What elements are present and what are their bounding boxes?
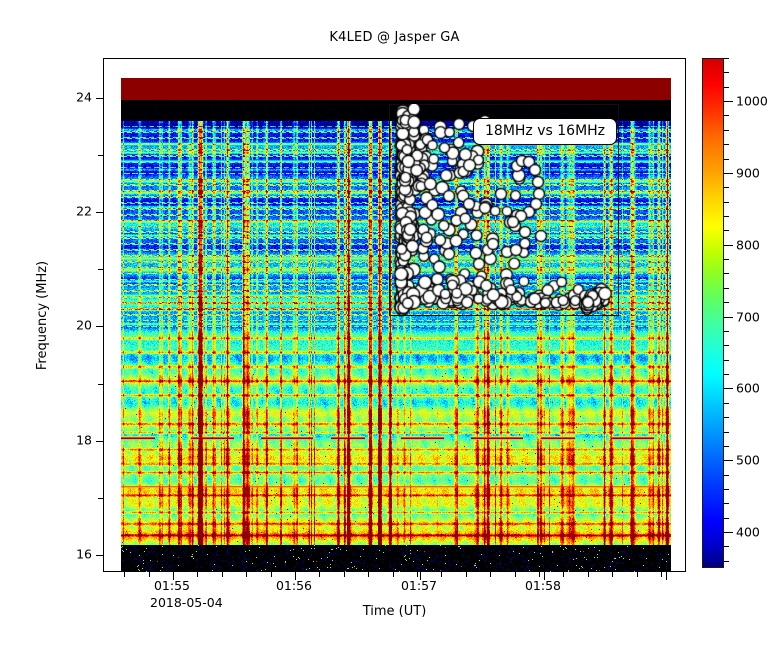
colorbar-minor-tick <box>724 331 729 332</box>
y-axis-tick <box>96 441 104 442</box>
colorbar-tick <box>724 388 733 389</box>
colorbar-minor-tick <box>724 360 729 361</box>
colorbar-minor-tick <box>724 345 729 346</box>
x-axis-minor-tick <box>588 571 589 577</box>
y-axis-minor-tick <box>98 155 104 156</box>
x-axis-minor-tick <box>466 571 467 577</box>
colorbar-minor-tick <box>724 144 729 145</box>
x-axis-minor-tick <box>661 571 662 577</box>
colorbar-minor-tick <box>724 288 729 289</box>
y-axis-tick-label: 22 <box>52 204 92 219</box>
colorbar-minor-tick <box>724 230 729 231</box>
y-axis-tick-label: 18 <box>52 432 92 447</box>
x-axis-minor-tick <box>271 571 272 577</box>
x-axis-minor-tick <box>612 571 613 577</box>
y-axis-tick-label: 16 <box>52 546 92 561</box>
colorbar-minor-tick <box>724 417 729 418</box>
x-axis-minor-tick <box>344 571 345 577</box>
spectrogram-raster <box>121 78 671 572</box>
x-axis-tick-label: 01:57 <box>384 578 454 593</box>
figure-canvas: K4LED @ Jasper GA Frequency (MHz) 18MHz … <box>0 0 783 656</box>
colorbar-minor-tick <box>724 273 729 274</box>
colorbar-tick <box>724 317 733 318</box>
colorbar-tick-label: 800 <box>736 237 760 252</box>
colorbar-minor-tick <box>724 374 729 375</box>
colorbar-minor-tick <box>724 518 729 519</box>
x-axis-minor-tick <box>197 571 198 577</box>
colorbar-tick-label: 400 <box>736 525 760 540</box>
colorbar-tick <box>724 173 733 174</box>
x-axis-tick-label: 01:55 <box>137 578 207 593</box>
x-axis-minor-tick <box>441 571 442 577</box>
x-axis-tick-label: 01:56 <box>259 578 329 593</box>
colorbar-minor-tick <box>724 561 729 562</box>
y-axis-minor-tick <box>98 384 104 385</box>
colorbar-minor-tick <box>724 302 729 303</box>
chart-title: K4LED @ Jasper GA <box>103 30 686 45</box>
colorbar-minor-tick <box>724 87 729 88</box>
x-axis-minor-tick <box>246 571 247 577</box>
colorbar-minor-tick <box>724 187 729 188</box>
colorbar-tick-label: 500 <box>736 453 760 468</box>
colorbar-minor-tick <box>724 159 729 160</box>
colorbar-tick <box>724 101 733 102</box>
colorbar-minor-tick <box>724 403 729 404</box>
colorbar-minor-tick <box>724 546 729 547</box>
date-label: 2018-05-04 <box>150 595 223 610</box>
colorbar-tick <box>724 245 733 246</box>
colorbar-tick-label: 900 <box>736 165 760 180</box>
x-axis-minor-tick <box>637 571 638 577</box>
main-axes: 18MHz vs 16MHz <box>103 58 686 572</box>
y-axis-minor-tick <box>98 498 104 499</box>
colorbar-minor-tick <box>724 58 729 59</box>
x-axis-minor-tick <box>515 571 516 577</box>
colorbar-tick-label: 600 <box>736 381 760 396</box>
colorbar-tick-label: 1000 <box>736 94 768 109</box>
colorbar <box>702 58 724 568</box>
x-axis-minor-tick <box>319 571 320 577</box>
y-axis-tick <box>96 326 104 327</box>
x-axis-minor-tick <box>124 571 125 577</box>
y-axis-label: Frequency (MHz) <box>34 58 52 572</box>
y-axis-tick-label: 24 <box>52 89 92 104</box>
colorbar-minor-tick <box>724 432 729 433</box>
y-axis-tick <box>96 555 104 556</box>
x-axis-tick <box>666 571 667 580</box>
colorbar-minor-tick <box>724 446 729 447</box>
colorbar-minor-tick <box>724 216 729 217</box>
colorbar-minor-tick <box>724 130 729 131</box>
x-axis-minor-tick <box>539 571 540 577</box>
y-axis-tick <box>96 212 104 213</box>
colorbar-minor-tick <box>724 72 729 73</box>
x-axis-minor-tick <box>149 571 150 577</box>
colorbar-tick <box>724 532 733 533</box>
annotation-label: 18MHz vs 16MHz <box>473 118 617 145</box>
y-axis-tick-label: 20 <box>52 318 92 333</box>
y-axis-minor-tick <box>98 269 104 270</box>
x-axis-minor-tick <box>222 571 223 577</box>
x-axis-minor-tick <box>563 571 564 577</box>
y-axis-tick <box>96 98 104 99</box>
x-axis-minor-tick <box>393 571 394 577</box>
colorbar-minor-tick <box>724 115 729 116</box>
colorbar-minor-tick <box>724 202 729 203</box>
colorbar-minor-tick <box>724 259 729 260</box>
colorbar-tick <box>724 460 733 461</box>
x-axis-minor-tick <box>368 571 369 577</box>
x-axis-minor-tick <box>417 571 418 577</box>
colorbar-minor-tick <box>724 489 729 490</box>
x-axis-minor-tick <box>490 571 491 577</box>
colorbar-minor-tick <box>724 475 729 476</box>
colorbar-tick-label: 700 <box>736 309 760 324</box>
x-axis-tick-label: 01:58 <box>508 578 578 593</box>
colorbar-minor-tick <box>724 503 729 504</box>
